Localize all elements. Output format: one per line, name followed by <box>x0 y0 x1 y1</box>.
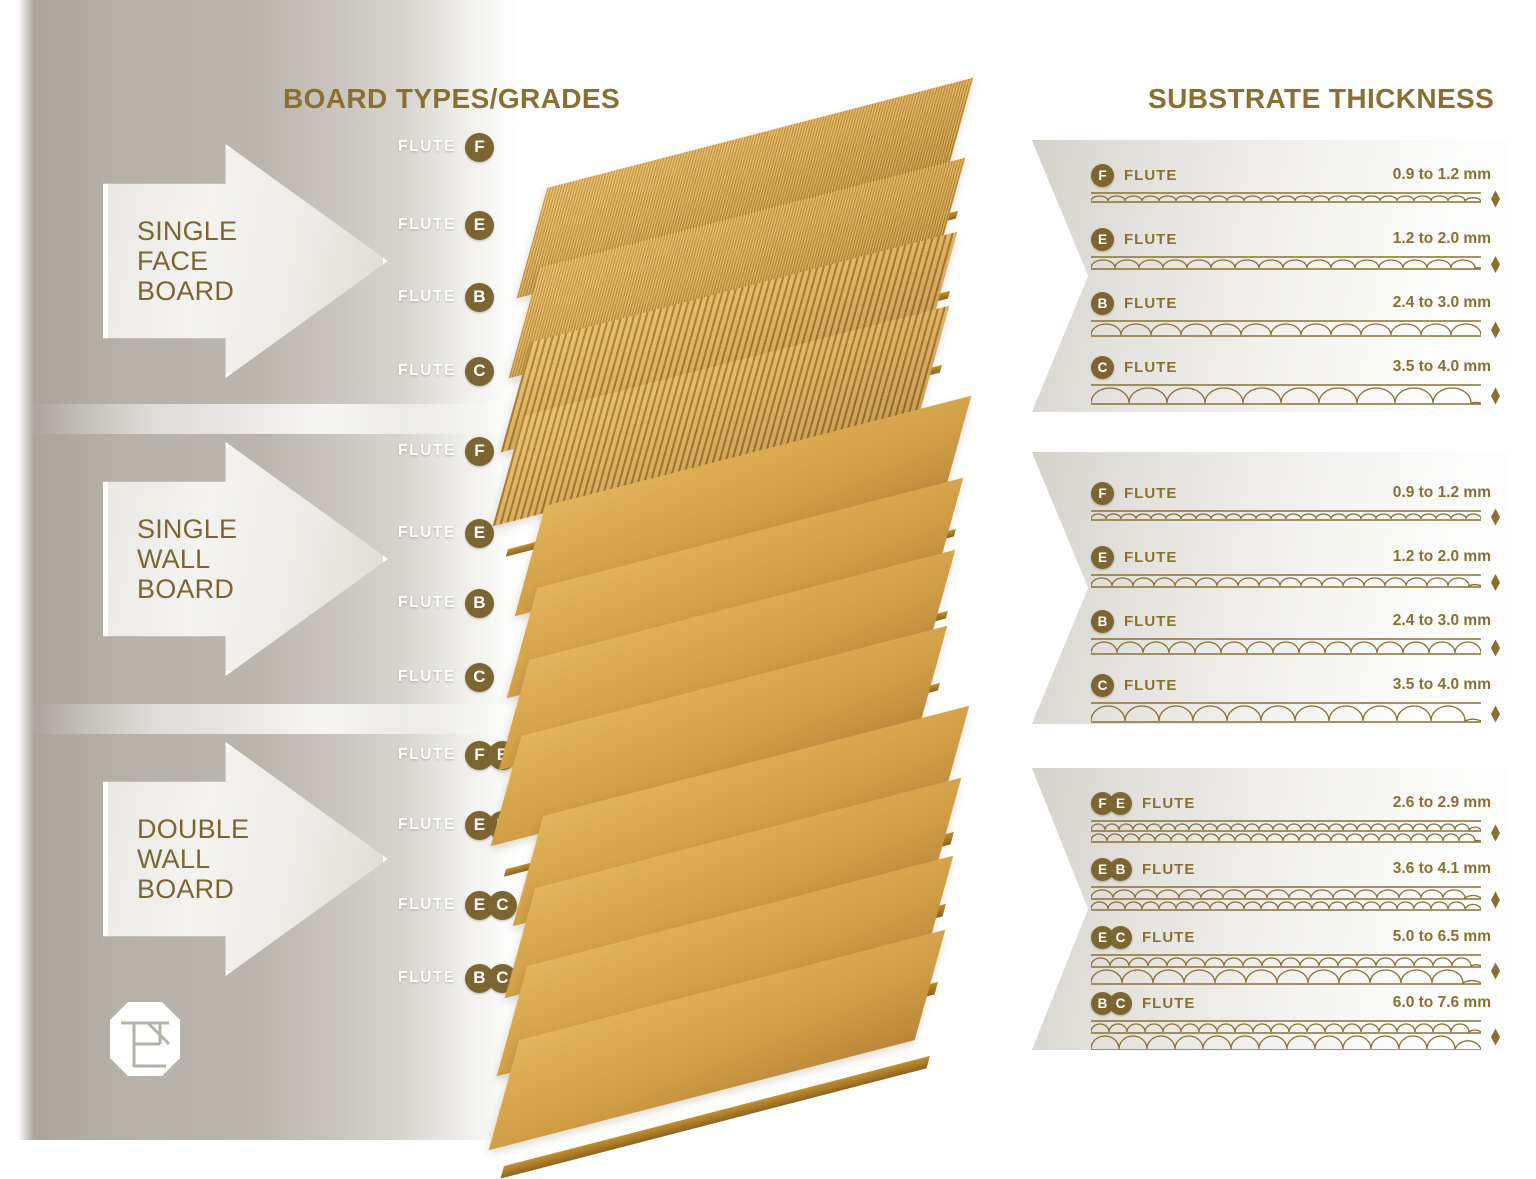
flute-grade-badge-f: F <box>1091 482 1114 505</box>
flute-row-label: FLUTE <box>398 442 456 460</box>
corrugation-wave-icon <box>1091 954 1481 988</box>
flute-row-label: FLUTE <box>398 816 456 834</box>
group-label-line1: SINGLE <box>137 216 237 246</box>
flute-grade-badge-c: C <box>465 663 494 692</box>
substrate-row-fe[interactable]: FEFLUTE2.6 to 2.9 mm <box>1091 790 1491 846</box>
flute-grade-badge-b: B <box>1109 858 1132 881</box>
substrate-row-header: FFLUTE0.9 to 1.2 mm <box>1091 162 1491 188</box>
substrate-flute-label: FLUTE <box>1124 613 1177 630</box>
group-label-line2: WALL <box>137 844 249 874</box>
group-label-single-wall: SINGLE WALL BOARD <box>108 514 237 605</box>
flute-grade-badge-e: E <box>1109 792 1132 815</box>
substrate-thickness-value: 3.5 to 4.0 mm <box>1393 676 1491 694</box>
substrate-wave-diagram <box>1091 192 1481 206</box>
flute-row-label: FLUTE <box>398 594 456 612</box>
flute-grade-badge-f: F <box>465 437 494 466</box>
flute-grade-badge-b: B <box>1091 610 1114 633</box>
flute-row-single-wall-c[interactable]: FLUTEC <box>398 662 494 692</box>
thickness-marker-diamond-icon <box>1491 388 1500 405</box>
substrate-thickness-value: 0.9 to 1.2 mm <box>1393 166 1491 184</box>
substrate-flute-label: FLUTE <box>1124 549 1177 566</box>
substrate-row-b[interactable]: BFLUTE2.4 to 3.0 mm <box>1091 290 1491 340</box>
corrugated-box-logo[interactable] <box>108 1000 182 1078</box>
flute-row-label: FLUTE <box>398 288 456 306</box>
flute-row-label: FLUTE <box>398 138 456 156</box>
thickness-marker-diamond-icon <box>1491 322 1500 339</box>
substrate-row-f[interactable]: FFLUTE0.9 to 1.2 mm <box>1091 162 1491 206</box>
flute-grade-badges: C <box>465 357 494 386</box>
corrugation-wave-icon <box>1091 820 1481 846</box>
thickness-marker-diamond-icon <box>1491 1029 1500 1046</box>
substrate-thickness-value: 2.6 to 2.9 mm <box>1393 794 1491 812</box>
substrate-row-c[interactable]: CFLUTE3.5 to 4.0 mm <box>1091 354 1491 408</box>
substrate-wave-diagram <box>1091 320 1481 340</box>
flute-grade-badge-c: C <box>1109 926 1132 949</box>
substrate-row-header: CFLUTE3.5 to 4.0 mm <box>1091 354 1491 380</box>
infographic-canvas: BOARD TYPES/GRADES SUBSTRATE THICKNESS S… <box>0 0 1536 1140</box>
substrate-flute-label: FLUTE <box>1124 677 1177 694</box>
flute-grade-badges: E <box>1091 228 1114 251</box>
section-separator-band-1 <box>30 404 530 434</box>
group-label-double-wall: DOUBLE WALL BOARD <box>108 814 249 905</box>
flute-grade-badges: E <box>465 519 494 548</box>
substrate-row-e[interactable]: EFLUTE1.2 to 2.0 mm <box>1091 226 1491 273</box>
flute-row-label: FLUTE <box>398 668 456 686</box>
flute-grade-badges: B <box>465 589 494 618</box>
flute-row-single-face-b[interactable]: FLUTEB <box>398 282 494 312</box>
flute-row-single-face-f[interactable]: FLUTEF <box>398 132 494 162</box>
corrugation-wave-icon <box>1091 384 1481 408</box>
flute-row-single-wall-b[interactable]: FLUTEB <box>398 588 494 618</box>
substrate-row-header: EFLUTE1.2 to 2.0 mm <box>1091 544 1491 570</box>
substrate-row-e[interactable]: EFLUTE1.2 to 2.0 mm <box>1091 544 1491 591</box>
substrate-row-header: CFLUTE3.5 to 4.0 mm <box>1091 672 1491 698</box>
flute-row-single-face-e[interactable]: FLUTEE <box>398 210 494 240</box>
group-label-single-face: SINGLE FACE BOARD <box>108 216 237 307</box>
substrate-thickness-value: 1.2 to 2.0 mm <box>1393 548 1491 566</box>
flute-grade-badges: C <box>465 663 494 692</box>
flute-row-label: FLUTE <box>398 216 456 234</box>
substrate-wave-diagram <box>1091 574 1481 591</box>
corrugation-wave-icon <box>1091 256 1481 273</box>
substrate-flute-label: FLUTE <box>1124 485 1177 502</box>
thickness-marker-diamond-icon <box>1491 509 1500 526</box>
flute-grade-badge-b: B <box>465 283 494 312</box>
flute-grade-badge-c: C <box>1109 992 1132 1015</box>
flute-grade-badges: F <box>465 133 494 162</box>
flute-row-single-wall-f[interactable]: FLUTEF <box>398 436 494 466</box>
flute-grade-badge-e: E <box>465 519 494 548</box>
flute-grade-badge-f: F <box>465 133 494 162</box>
substrate-row-bc[interactable]: BCFLUTE6.0 to 7.6 mm <box>1091 990 1491 1054</box>
group-label-line1: SINGLE <box>137 514 237 544</box>
thickness-marker-diamond-icon <box>1491 574 1500 591</box>
substrate-thickness-value: 3.6 to 4.1 mm <box>1393 860 1491 878</box>
flute-grade-badge-e: E <box>465 211 494 240</box>
flute-grade-badges: C <box>1091 356 1114 379</box>
substrate-flute-label: FLUTE <box>1142 861 1195 878</box>
substrate-row-header: BFLUTE2.4 to 3.0 mm <box>1091 290 1491 316</box>
board-sheet-12 <box>497 960 937 1120</box>
substrate-wave-diagram <box>1091 954 1481 988</box>
substrate-flute-label: FLUTE <box>1142 795 1195 812</box>
flute-grade-badge-b: B <box>465 589 494 618</box>
substrate-row-header: BFLUTE2.4 to 3.0 mm <box>1091 608 1491 634</box>
substrate-row-header: FEFLUTE2.6 to 2.9 mm <box>1091 790 1491 816</box>
substrate-flute-label: FLUTE <box>1124 231 1177 248</box>
flute-grade-badges: B <box>1091 610 1114 633</box>
group-label-line2: FACE <box>137 246 237 276</box>
flute-grade-badge-c: C <box>465 357 494 386</box>
flute-grade-badge-c: C <box>1091 356 1114 379</box>
page-title-substrate-thickness: SUBSTRATE THICKNESS <box>1148 83 1494 115</box>
thickness-marker-diamond-icon <box>1491 825 1500 842</box>
corrugation-wave-icon <box>1091 702 1481 726</box>
flute-grade-badges: E <box>1091 546 1114 569</box>
thickness-marker-diamond-icon <box>1491 963 1500 980</box>
corrugation-wave-icon <box>1091 574 1481 591</box>
flute-grade-badges: EC <box>1091 926 1132 949</box>
group-label-line2: WALL <box>137 544 237 574</box>
corrugation-wave-icon <box>1091 510 1481 524</box>
substrate-flute-label: FLUTE <box>1124 359 1177 376</box>
flute-grade-badges: E <box>465 211 494 240</box>
flute-grade-badge-f: F <box>1091 164 1114 187</box>
substrate-thickness-value: 3.5 to 4.0 mm <box>1393 358 1491 376</box>
substrate-row-eb[interactable]: EBFLUTE3.6 to 4.1 mm <box>1091 856 1491 914</box>
flute-grade-badges: B <box>1091 292 1114 315</box>
substrate-row-header: ECFLUTE5.0 to 6.5 mm <box>1091 924 1491 950</box>
thickness-marker-diamond-icon <box>1491 640 1500 657</box>
flute-grade-badge-b: B <box>1091 292 1114 315</box>
group-label-line1: DOUBLE <box>137 814 249 844</box>
substrate-row-b[interactable]: BFLUTE2.4 to 3.0 mm <box>1091 608 1491 658</box>
substrate-thickness-value: 2.4 to 3.0 mm <box>1393 294 1491 312</box>
flute-grade-badge-e: E <box>1091 228 1114 251</box>
flute-grade-badges: F <box>465 437 494 466</box>
substrate-wave-diagram <box>1091 638 1481 658</box>
substrate-flute-label: FLUTE <box>1142 995 1195 1012</box>
flute-row-label: FLUTE <box>398 362 456 380</box>
group-label-line3: BOARD <box>137 574 237 604</box>
flute-grade-badges: BC <box>1091 992 1132 1015</box>
substrate-row-ec[interactable]: ECFLUTE5.0 to 6.5 mm <box>1091 924 1491 988</box>
corrugation-wave-icon <box>1091 886 1481 914</box>
flute-row-label: FLUTE <box>398 896 456 914</box>
flute-row-label: FLUTE <box>398 524 456 542</box>
thickness-marker-diamond-icon <box>1491 892 1500 909</box>
flute-row-single-face-c[interactable]: FLUTEC <box>398 356 494 386</box>
substrate-wave-diagram <box>1091 256 1481 273</box>
substrate-wave-diagram <box>1091 886 1481 914</box>
flute-row-label: FLUTE <box>398 746 456 764</box>
substrate-thickness-value: 1.2 to 2.0 mm <box>1393 230 1491 248</box>
substrate-row-header: EBFLUTE3.6 to 4.1 mm <box>1091 856 1491 882</box>
substrate-row-header: FFLUTE0.9 to 1.2 mm <box>1091 480 1491 506</box>
board-stack-illustration <box>495 100 1005 1140</box>
flute-grade-badges: B <box>465 283 494 312</box>
substrate-row-header: EFLUTE1.2 to 2.0 mm <box>1091 226 1491 252</box>
thickness-marker-diamond-icon <box>1491 256 1500 273</box>
substrate-wave-diagram <box>1091 1020 1481 1054</box>
corrugation-wave-icon <box>1091 1020 1481 1054</box>
substrate-row-header: BCFLUTE6.0 to 7.6 mm <box>1091 990 1491 1016</box>
corrugation-wave-icon <box>1091 638 1481 658</box>
flute-row-single-wall-e[interactable]: FLUTEE <box>398 518 494 548</box>
substrate-flute-label: FLUTE <box>1124 167 1177 184</box>
substrate-row-f[interactable]: FFLUTE0.9 to 1.2 mm <box>1091 480 1491 524</box>
section-separator-band-2 <box>30 704 530 734</box>
flute-grade-badge-c: C <box>1091 674 1114 697</box>
substrate-thickness-value: 6.0 to 7.6 mm <box>1393 994 1491 1012</box>
substrate-wave-diagram <box>1091 384 1481 408</box>
group-label-line3: BOARD <box>137 276 237 306</box>
substrate-flute-label: FLUTE <box>1142 929 1195 946</box>
thickness-marker-diamond-icon <box>1491 191 1500 208</box>
group-label-line3: BOARD <box>137 874 249 904</box>
substrate-row-c[interactable]: CFLUTE3.5 to 4.0 mm <box>1091 672 1491 726</box>
substrate-wave-diagram <box>1091 820 1481 846</box>
flute-grade-badges: FE <box>1091 792 1132 815</box>
substrate-wave-diagram <box>1091 510 1481 524</box>
substrate-thickness-value: 2.4 to 3.0 mm <box>1393 612 1491 630</box>
substrate-thickness-value: 5.0 to 6.5 mm <box>1393 928 1491 946</box>
flute-grade-badges: F <box>1091 164 1114 187</box>
flute-grade-badges: C <box>1091 674 1114 697</box>
flute-grade-badges: EB <box>1091 858 1132 881</box>
substrate-wave-diagram <box>1091 702 1481 726</box>
corrugation-wave-icon <box>1091 320 1481 340</box>
substrate-thickness-value: 0.9 to 1.2 mm <box>1393 484 1491 502</box>
flute-row-label: FLUTE <box>398 969 456 987</box>
flute-grade-badge-e: E <box>1091 546 1114 569</box>
corrugation-wave-icon <box>1091 192 1481 206</box>
thickness-marker-diamond-icon <box>1491 706 1500 723</box>
flute-grade-badges: F <box>1091 482 1114 505</box>
substrate-flute-label: FLUTE <box>1124 295 1177 312</box>
